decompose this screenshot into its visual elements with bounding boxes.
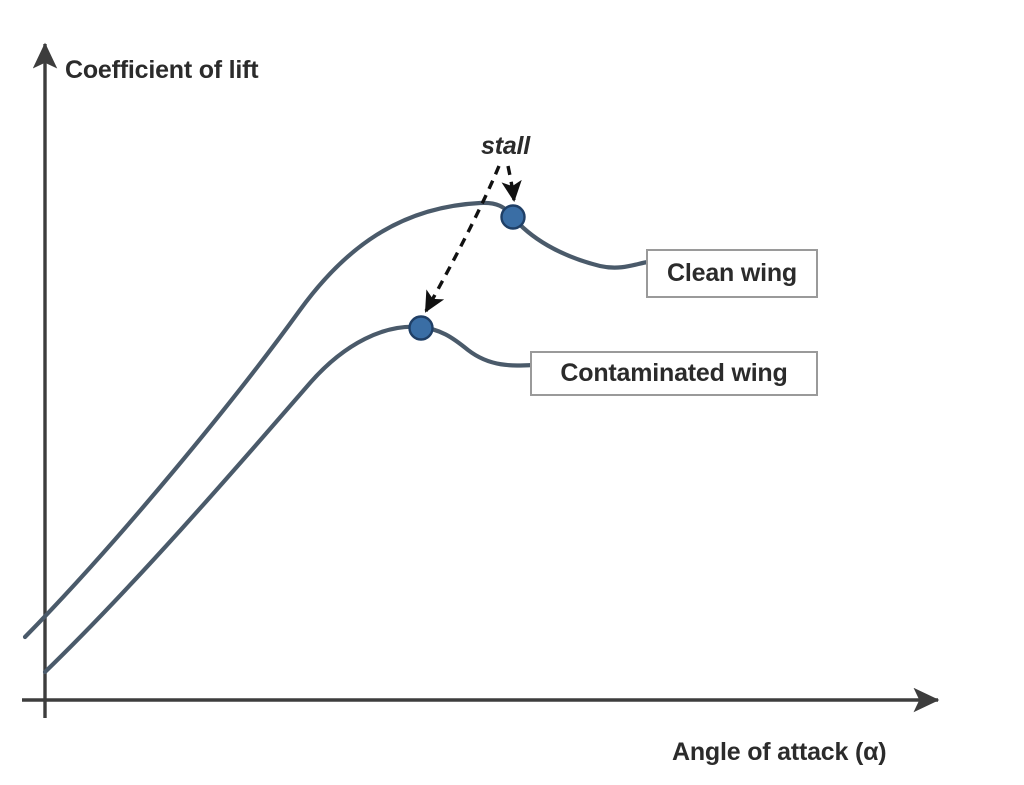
clean-wing-stall-marker	[502, 206, 525, 229]
contaminated-wing-curve	[45, 327, 533, 672]
x-axis-title: Angle of attack (α)	[672, 738, 886, 767]
stall-connector-group	[426, 166, 514, 311]
plot-canvas	[0, 0, 1024, 785]
contaminated-wing-stall-marker	[410, 317, 433, 340]
clean-wing-curve	[25, 203, 648, 637]
stall-marker-group	[410, 206, 525, 340]
clean-wing-callout: Clean wing	[646, 249, 818, 298]
stall-annotation-label: stall	[481, 132, 530, 161]
lift-curve-figure: Coefficient of lift Angle of attack (α) …	[0, 0, 1024, 785]
stall-pointer-contaminated-wing	[426, 166, 499, 311]
contaminated-wing-callout: Contaminated wing	[530, 351, 818, 396]
stall-pointer-clean-wing	[508, 166, 514, 200]
y-axis-title: Coefficient of lift	[65, 56, 258, 85]
